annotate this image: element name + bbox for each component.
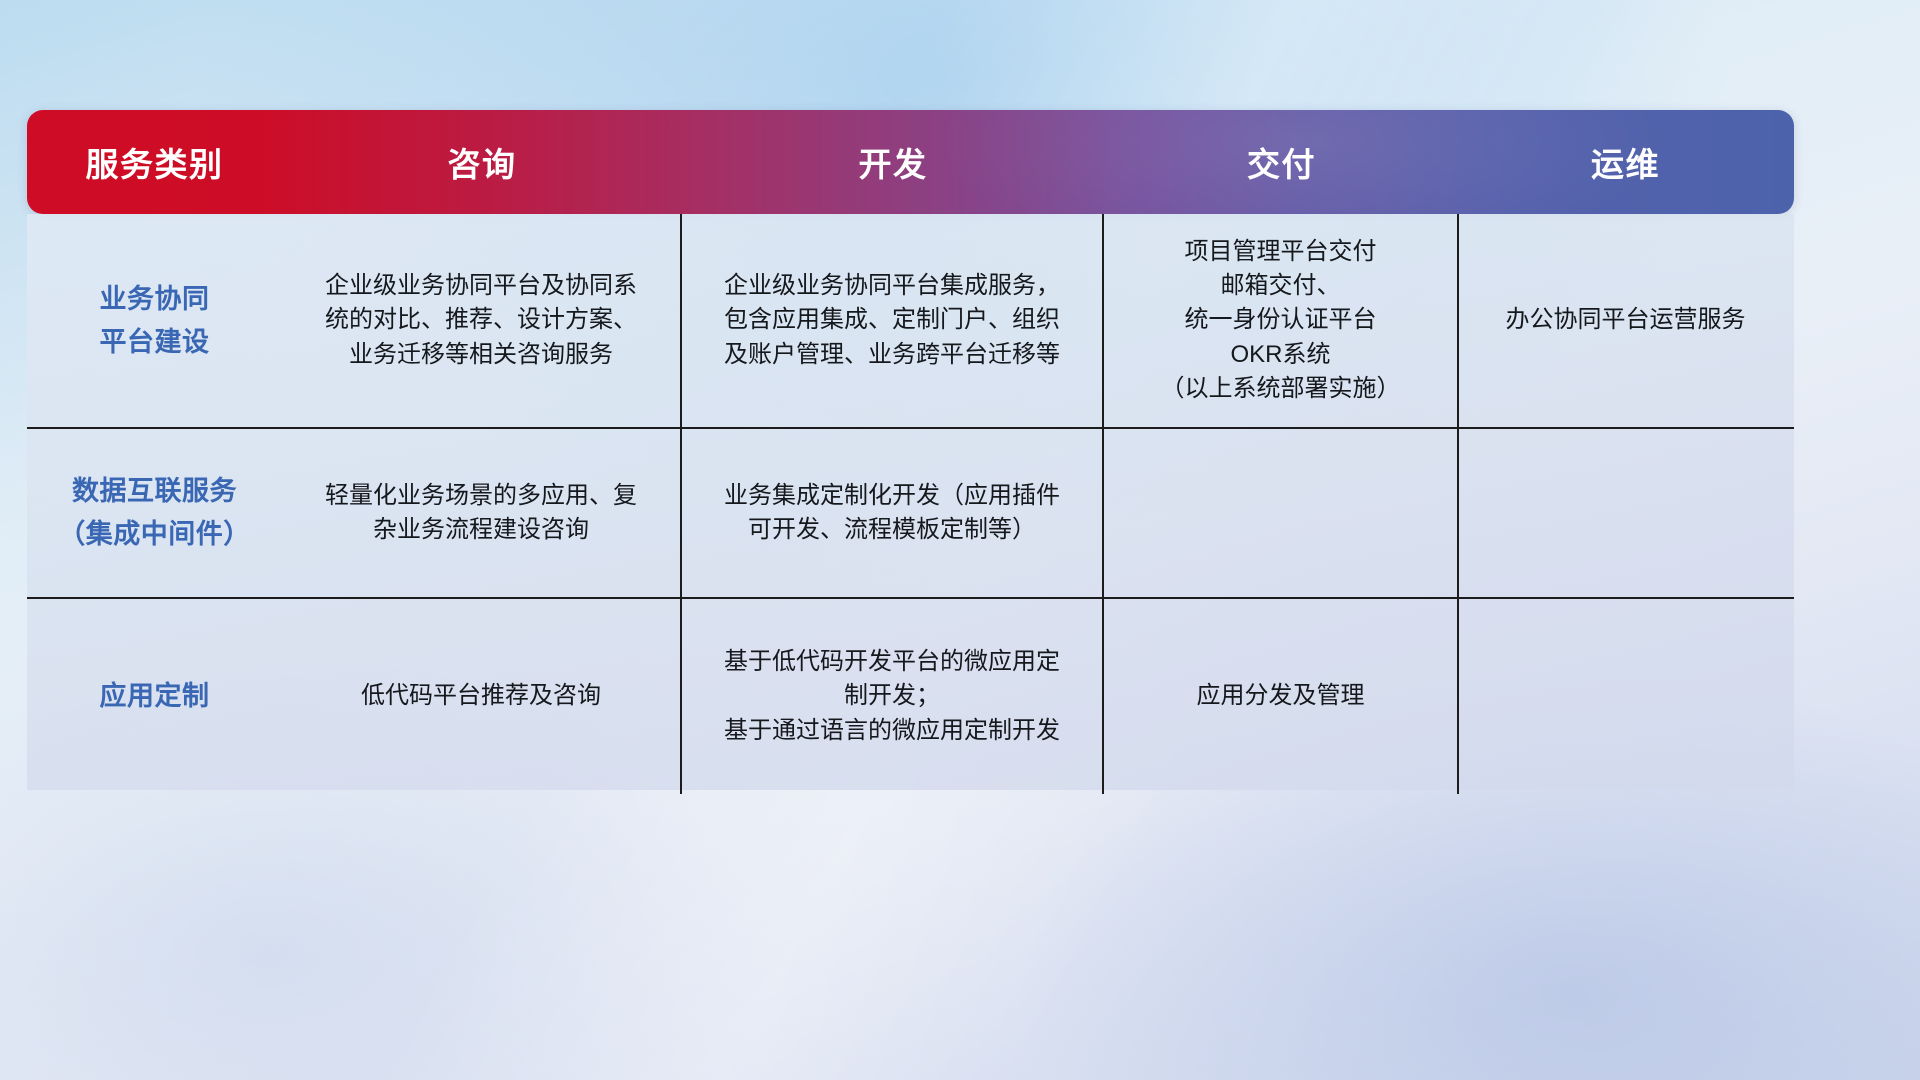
column-header-delivery: 交付 [1104,138,1459,186]
cell-category: 数据互联服务 （集成中间件） [27,429,282,597]
cell-delivery: 项目管理平台交付 邮箱交付、 统一身份认证平台 OKR系统 （以上系统部署实施） [1104,214,1459,427]
cell-consulting: 企业级业务协同平台及协同系 统的对比、推荐、设计方案、 业务迁移等相关咨询服务 [282,214,682,427]
cell-development: 企业级业务协同平台集成服务， 包含应用集成、定制门户、组织 及账户管理、业务跨平… [682,214,1104,427]
cell-category: 应用定制 [27,599,282,794]
column-header-operations: 运维 [1459,138,1792,186]
table-header-row: 服务类别 咨询 开发 交付 运维 [27,110,1794,214]
column-header-category: 服务类别 [27,138,282,186]
cell-consulting: 低代码平台推荐及咨询 [282,599,682,794]
table-body: 业务协同 平台建设 企业级业务协同平台及协同系 统的对比、推荐、设计方案、 业务… [27,214,1794,790]
column-header-consulting: 咨询 [282,138,682,186]
cell-operations [1459,599,1792,794]
cell-development: 基于低代码开发平台的微应用定 制开发； 基于通过语言的微应用定制开发 [682,599,1104,794]
table-row: 业务协同 平台建设 企业级业务协同平台及协同系 统的对比、推荐、设计方案、 业务… [27,214,1794,429]
cell-development: 业务集成定制化开发（应用插件 可开发、流程模板定制等） [682,429,1104,597]
cell-delivery [1104,429,1459,597]
cell-category: 业务协同 平台建设 [27,214,282,427]
cell-operations: 办公协同平台运营服务 [1459,214,1792,427]
cell-operations [1459,429,1792,597]
table-row: 应用定制 低代码平台推荐及咨询 基于低代码开发平台的微应用定 制开发； 基于通过… [27,599,1794,794]
column-header-development: 开发 [682,138,1104,186]
table-row: 数据互联服务 （集成中间件） 轻量化业务场景的多应用、复 杂业务流程建设咨询 业… [27,429,1794,599]
cell-consulting: 轻量化业务场景的多应用、复 杂业务流程建设咨询 [282,429,682,597]
cell-delivery: 应用分发及管理 [1104,599,1459,794]
service-category-table: 服务类别 咨询 开发 交付 运维 业务协同 平台建设 企业级业务协同平台及协同系… [27,110,1794,790]
